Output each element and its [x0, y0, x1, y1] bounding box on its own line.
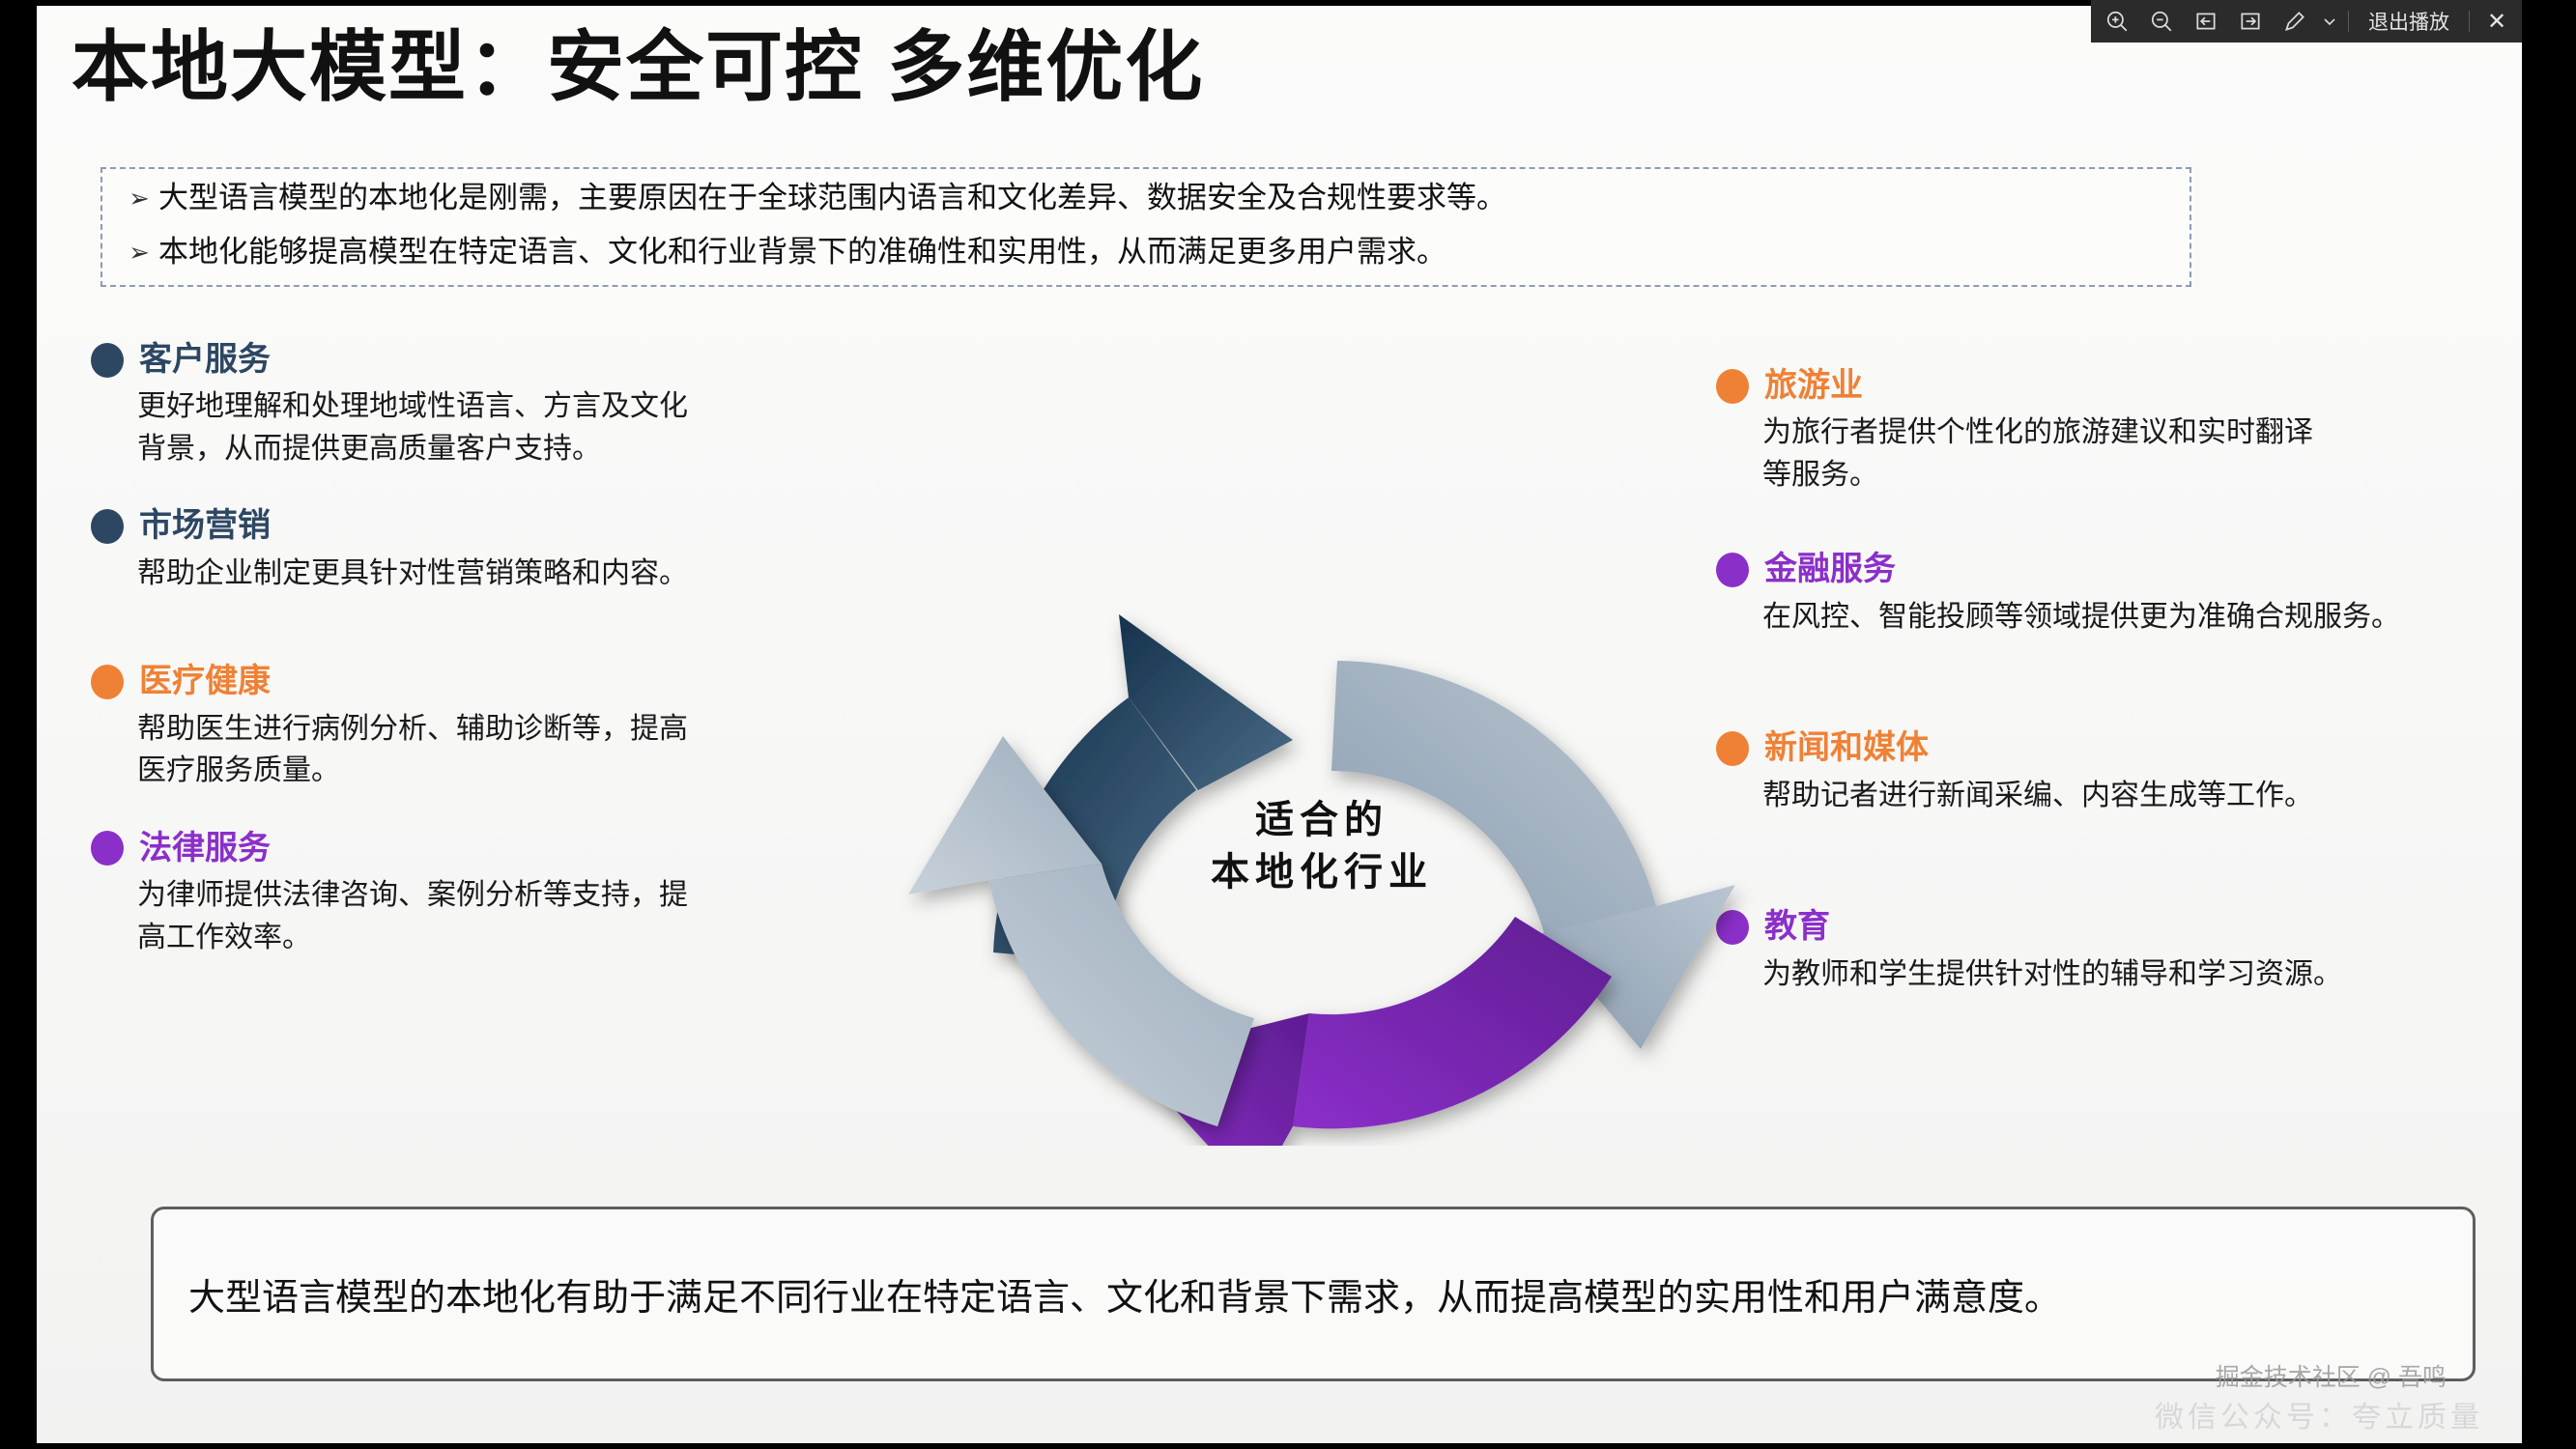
bullet-text: 本地化能够提高模型在特定语言、文化和行业背景下的准确性和实用性，从而满足更多用户…	[158, 227, 1446, 277]
list-item: 教育 为教师和学生提供针对性的辅导和学习资源。	[1716, 909, 2522, 995]
item-description: 帮助企业制定更具针对性营销策略和内容。	[91, 553, 883, 595]
right-industry-list: 旅游业 为旅行者提供个性化的旅游建议和实时翻译 等服务。 金融服务 在风控、智能…	[1716, 368, 2522, 1003]
bullet-dot-icon	[1716, 369, 1749, 404]
bullet-dot-icon	[91, 831, 124, 866]
item-title: 客户服务	[139, 342, 271, 378]
bullet-dot-icon	[91, 509, 124, 544]
item-description: 在风控、智能投顾等领域提供更为准确合规服务。	[1716, 596, 2522, 639]
zoom-out-icon	[2149, 9, 2174, 34]
exit-presentation-button[interactable]: 退出播放	[2355, 7, 2463, 36]
item-description: 为教师和学生提供针对性的辅导和学习资源。	[1716, 953, 2522, 996]
screen: 本地大模型：安全可控 多维优化 ➢ 大型语言模型的本地化是刚需，主要原因在于全球…	[0, 0, 2576, 1449]
zoom-in-button[interactable]	[2095, 0, 2139, 43]
watermark-secondary: 微信公众号：夸立质量	[2155, 1393, 2483, 1435]
item-description: 为旅行者提供个性化的旅游建议和实时翻译 等服务。	[1716, 412, 2522, 496]
letterbox-bottom	[0, 1443, 2576, 1449]
list-item: 客户服务 更好地理解和处理地域性语言、方言及文化 背景，从而提供更高质量客户支持…	[91, 342, 883, 469]
zoom-out-button[interactable]	[2139, 0, 2184, 43]
letterbox-left	[0, 0, 37, 1449]
list-item: 新闻和媒体 帮助记者进行新闻采编、内容生成等工作。	[1716, 730, 2522, 816]
page-title: 本地大模型：安全可控 多维优化	[72, 27, 1204, 108]
summary-box: 大型语言模型的本地化有助于满足不同行业在特定语言、文化和背景下需求，从而提高模型…	[151, 1207, 2476, 1381]
bullet-dot-icon	[91, 343, 124, 378]
close-button[interactable]: ✕	[2476, 0, 2518, 43]
chevron-down-icon	[2322, 14, 2337, 29]
item-title: 法律服务	[139, 831, 271, 867]
toolbar-divider	[2469, 11, 2470, 32]
list-item: 旅游业 为旅行者提供个性化的旅游建议和实时翻译 等服务。	[1716, 368, 2522, 496]
item-description: 帮助医生进行病例分析、辅助诊断等，提高 医疗服务质量。	[91, 708, 883, 792]
item-description: 为律师提供法律咨询、案例分析等支持，提 高工作效率。	[91, 874, 883, 958]
watermark-primary: 掘金技术社区 @ 吾鸣	[2216, 1358, 2447, 1393]
list-item: 金融服务 在风控、智能投顾等领域提供更为准确合规服务。	[1716, 552, 2522, 638]
list-item: 市场营销 帮助企业制定更具针对性营销策略和内容。	[91, 508, 883, 594]
pen-options-button[interactable]	[2317, 0, 2342, 43]
presentation-toolbar: 退出播放 ✕	[2091, 0, 2522, 43]
previous-slide-button[interactable]	[2184, 0, 2228, 43]
bullet-item: ➢ 本地化能够提高模型在特定语言、文化和行业背景下的准确性和实用性，从而满足更多…	[102, 223, 2190, 277]
item-title: 医疗健康	[139, 664, 271, 699]
cycle-diagram-svg	[839, 547, 1805, 1146]
cycle-diagram: 适合的 本地化行业	[839, 547, 1805, 1146]
item-title: 市场营销	[139, 508, 271, 544]
summary-text: 大型语言模型的本地化有助于满足不同行业在特定语言、文化和背景下需求，从而提高模型…	[154, 1267, 2096, 1321]
list-item: 法律服务 为律师提供法律咨询、案例分析等支持，提 高工作效率。	[91, 831, 883, 958]
next-slide-icon	[2238, 9, 2263, 34]
pen-button[interactable]	[2273, 0, 2317, 43]
key-points-box: ➢ 大型语言模型的本地化是刚需，主要原因在于全球范围内语言和文化差异、数据安全及…	[100, 167, 2191, 287]
next-slide-button[interactable]	[2228, 0, 2273, 43]
pen-icon	[2282, 9, 2307, 34]
bullet-dot-icon	[91, 665, 124, 699]
list-item: 医疗健康 帮助医生进行病例分析、辅助诊断等，提高 医疗服务质量。	[91, 664, 883, 791]
zoom-in-icon	[2104, 9, 2130, 34]
item-title: 旅游业	[1764, 368, 1863, 404]
item-description: 更好地理解和处理地域性语言、方言及文化 背景，从而提供更高质量客户支持。	[91, 385, 883, 469]
arrow-bullet-icon: ➢	[120, 173, 158, 223]
bullet-item: ➢ 大型语言模型的本地化是刚需，主要原因在于全球范围内语言和文化差异、数据安全及…	[102, 169, 2190, 223]
left-industry-list: 客户服务 更好地理解和处理地域性语言、方言及文化 背景，从而提供更高质量客户支持…	[91, 342, 883, 966]
toolbar-divider	[2348, 11, 2349, 32]
letterbox-right	[2522, 0, 2576, 1449]
previous-slide-icon	[2193, 9, 2218, 34]
item-description: 帮助记者进行新闻采编、内容生成等工作。	[1716, 775, 2522, 817]
slide-canvas: 本地大模型：安全可控 多维优化 ➢ 大型语言模型的本地化是刚需，主要原因在于全球…	[37, 6, 2522, 1443]
arrow-bullet-icon: ➢	[120, 227, 158, 277]
bullet-text: 大型语言模型的本地化是刚需，主要原因在于全球范围内语言和文化差异、数据安全及合规…	[158, 173, 1506, 223]
